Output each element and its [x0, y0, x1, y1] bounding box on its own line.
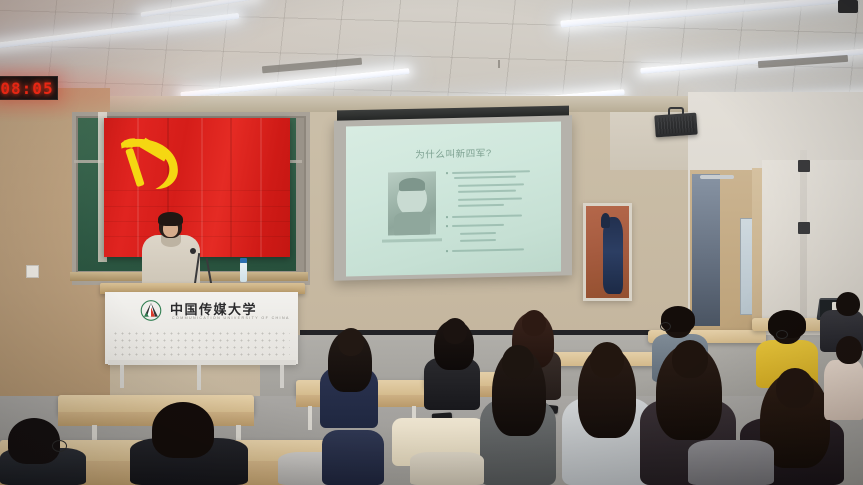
hammer-and-sickle-icon — [118, 132, 190, 194]
wall-speaker-icon — [654, 113, 697, 138]
podium-perforation-pattern — [112, 330, 290, 358]
lecture-hall-photo: 08:05 为什么叫新四军? — [0, 0, 863, 485]
podium-university-name-en: COMMUNICATION UNIVERSITY OF CHINA — [172, 316, 290, 320]
podium-leg — [280, 362, 284, 388]
microphone-head-icon — [190, 248, 196, 254]
rail-mount-icon — [798, 160, 810, 172]
wall-rail — [800, 150, 807, 320]
desk-leg — [308, 406, 312, 430]
artwork-figure — [603, 217, 623, 294]
framed-artwork — [583, 203, 632, 301]
eyeglasses-icon — [660, 322, 671, 331]
projector-screen: 为什么叫新四军? — [346, 122, 561, 277]
ceiling-corner-device — [838, 0, 858, 13]
open-door[interactable] — [692, 174, 720, 326]
podium-leg — [120, 362, 124, 388]
university-mountain-logo-icon — [140, 300, 162, 321]
slide-title: 为什么叫新四军? — [346, 144, 561, 163]
door-closer-icon — [700, 175, 734, 179]
slide-photo-caption — [382, 238, 442, 242]
eyeglasses-icon — [776, 330, 788, 339]
podium-lower-shelf — [108, 360, 296, 365]
eyeglasses-icon — [52, 440, 67, 452]
lecturer-hair — [158, 212, 183, 226]
water-bottle — [240, 262, 247, 282]
slide-portrait-photo — [388, 171, 436, 235]
rail-mount-icon — [798, 222, 810, 234]
wall-switch-plate[interactable] — [26, 265, 39, 278]
water-bottle-cap — [240, 258, 247, 263]
artwork-canvas — [586, 206, 629, 298]
led-wall-clock: 08:05 — [0, 76, 58, 100]
clock-time-display: 08:05 — [0, 79, 53, 98]
ceiling-hook-icon — [498, 60, 500, 68]
speaker-grill — [657, 116, 694, 134]
artwork-figure-head — [601, 213, 610, 228]
door-frame-right — [752, 168, 762, 333]
podium-leg — [197, 362, 201, 390]
